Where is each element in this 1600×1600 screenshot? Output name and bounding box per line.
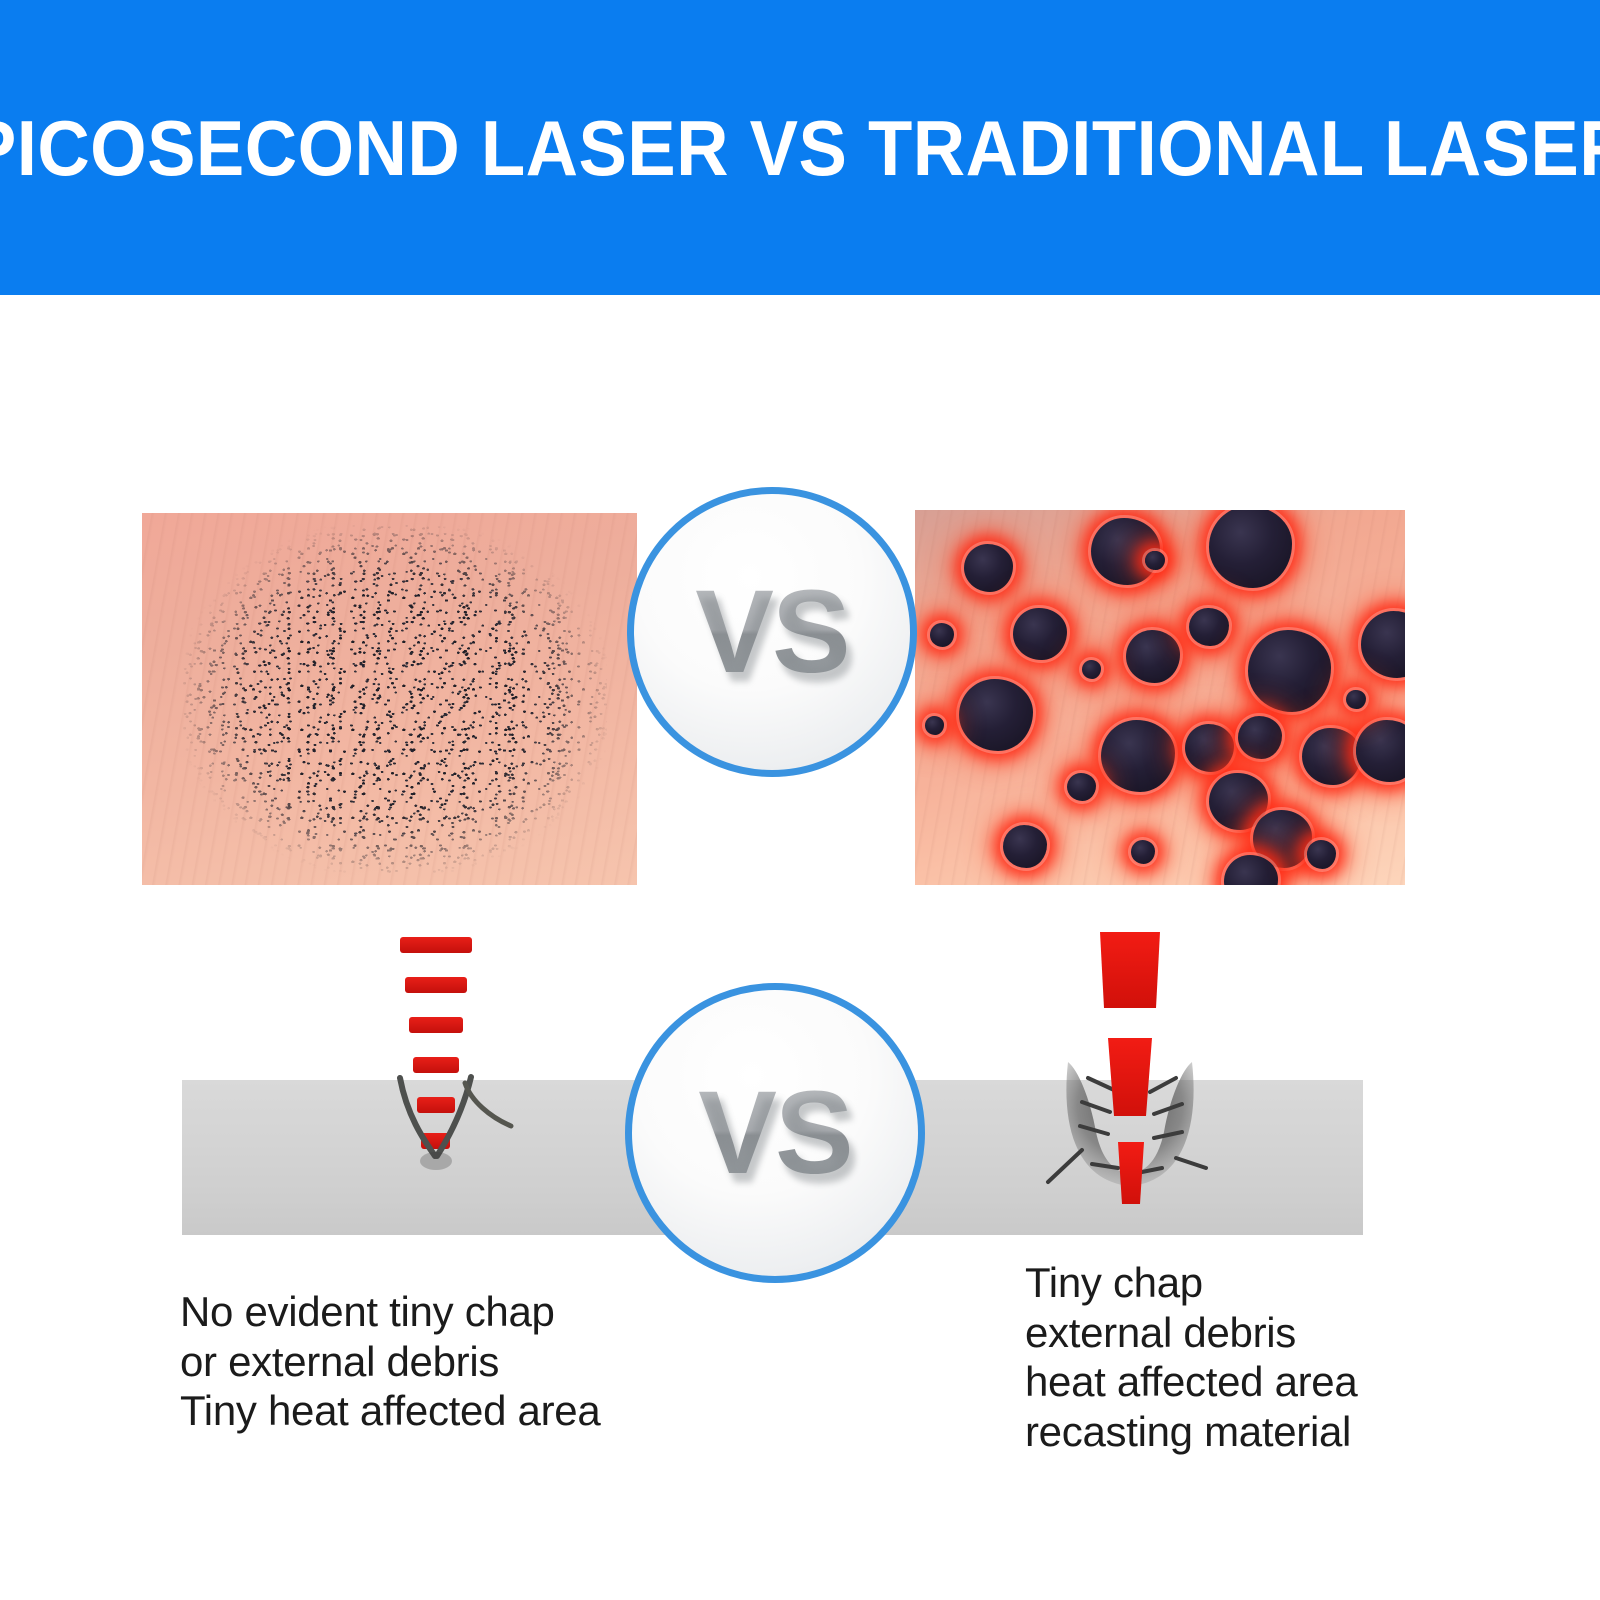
vs-label-shadow-bottom: VS [704,1082,857,1202]
picosecond-caption: No evident tiny chap or external debris … [180,1287,600,1436]
comparison-stage: VS VS [0,295,1600,1600]
pigment-blob [1302,728,1361,786]
vs-badge-bottom: VS VS [625,983,925,1283]
picosecond-cut-svg [345,925,525,1255]
caption-line: No evident tiny chap [180,1287,600,1337]
caption-line: or external debris [180,1337,600,1387]
fine-pigment-particles [182,524,608,874]
debris-whisker [465,1083,511,1126]
vs-label-shadow-top: VS [701,581,854,701]
pigment-blob [1101,720,1175,792]
caption-line: heat affected area [1025,1357,1357,1407]
traditional-cut-svg [1030,920,1230,1260]
pigment-blob [1307,840,1336,869]
traditional-skin-result-photo [915,510,1405,885]
pigment-blob [1185,724,1234,772]
pigment-blob [1126,630,1180,683]
pigment-blob [1131,840,1156,864]
pigment-blob [1013,608,1067,661]
pigment-blob [964,544,1013,592]
kerf-tip-shadow [420,1152,452,1170]
pigment-blob [930,623,955,647]
caption-line: external debris [1025,1308,1357,1358]
header-banner: PICOSECOND LASER VS TRADITIONAL LASER [0,0,1600,295]
traditional-cross-section [1030,920,1230,1260]
crater-mouth [1099,1060,1160,1172]
traditional-caption: Tiny chap external debris heat affected … [1025,1258,1357,1456]
caption-line: Tiny heat affected area [180,1386,600,1436]
pigment-blob [1248,630,1331,712]
pigment-blob [1346,690,1366,709]
picosecond-skin-result-photo [142,513,637,885]
picosecond-cross-section [345,925,525,1255]
page-title: PICOSECOND LASER VS TRADITIONAL LASER [56,0,1544,295]
caption-line: recasting material [1025,1407,1357,1457]
pigment-blob [959,679,1033,751]
vs-badge-top: VS VS [627,487,917,777]
caption-line: Tiny chap [1025,1258,1357,1308]
pigment-blob [1189,608,1228,646]
